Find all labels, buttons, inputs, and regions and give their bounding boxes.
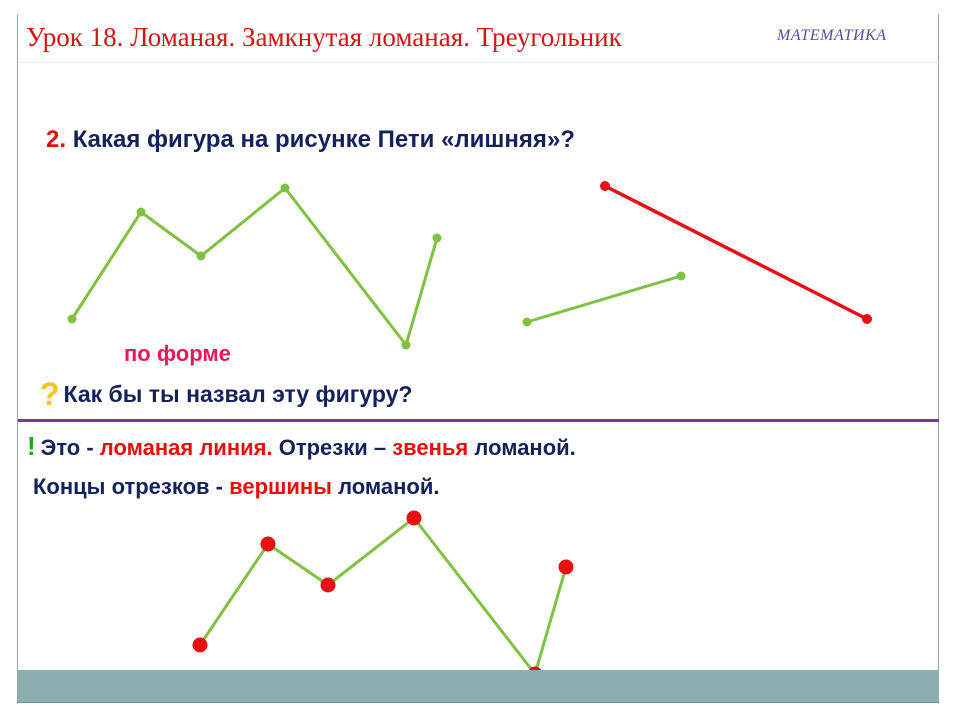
question-mark-icon: ? (40, 376, 60, 412)
vertex-dot (677, 272, 686, 281)
green-polyline-bottom-with-red-vertices-path (200, 518, 566, 674)
vertex-dot (321, 578, 336, 593)
hint-label: по форме (124, 341, 231, 367)
vertex-dot (68, 315, 77, 324)
answer-l2-part1: Концы отрезков - (33, 474, 229, 499)
vertex-dot (862, 314, 872, 324)
vertex-dot (523, 318, 532, 327)
answer-l1-highlight1: ломаная линия. (100, 435, 273, 460)
answer-l2-part2: ломаной. (332, 474, 440, 499)
answer-l1-part2: Отрезки – (273, 435, 393, 460)
answer-l2-highlight: вершины (229, 474, 332, 499)
exclamation-icon: ! (27, 431, 36, 461)
question-line: 2. Какая фигура на рисунке Пети «лишняя»… (46, 126, 575, 154)
prompt-line: ?Как бы ты назвал эту фигуру? (40, 381, 412, 408)
red-segment (600, 181, 872, 324)
green-segment (523, 272, 686, 327)
prompt-text: Как бы ты назвал эту фигуру? (64, 381, 413, 407)
green-polyline-bottom-with-red-vertices (193, 511, 574, 682)
vertex-dot (281, 184, 290, 193)
answer-l1-part3: ломаной. (468, 435, 576, 460)
section-divider (18, 419, 939, 422)
page-title: Урок 18. Ломаная. Замкнутая ломаная. Тре… (26, 22, 622, 53)
vertex-dot (137, 208, 146, 217)
vertex-dot (197, 252, 206, 261)
question-number: 2 (46, 126, 59, 153)
answer-line-1: !Это - ломаная линия. Отрезки – звенья л… (27, 431, 576, 462)
answer-line-2: Концы отрезков - вершины ломаной. (33, 474, 439, 500)
vertex-dot (407, 511, 422, 526)
green-polyline-top (68, 184, 442, 350)
question-number-suffix: . (59, 126, 72, 153)
title-underline-rule (18, 62, 939, 63)
question-text: Какая фигура на рисунке Пети «лишняя»? (73, 126, 575, 153)
red-segment-path (605, 186, 867, 319)
vertex-dot (261, 537, 276, 552)
answer-l1-highlight2: звенья (392, 435, 468, 460)
subject-logo: МАТЕМАТИКА (777, 27, 887, 45)
answer-l1-part1: Это - (41, 435, 100, 460)
vertex-dot (433, 234, 442, 243)
vertex-dot (193, 638, 208, 653)
green-segment-path (527, 276, 681, 322)
vertex-dot (402, 341, 411, 350)
slide-canvas: Урок 18. Ломаная. Замкнутая ломаная. Тре… (0, 0, 960, 720)
vertex-dot (600, 181, 610, 191)
green-polyline-top-path (72, 188, 437, 345)
vertex-dot (559, 560, 574, 575)
footer-bar (18, 670, 939, 703)
